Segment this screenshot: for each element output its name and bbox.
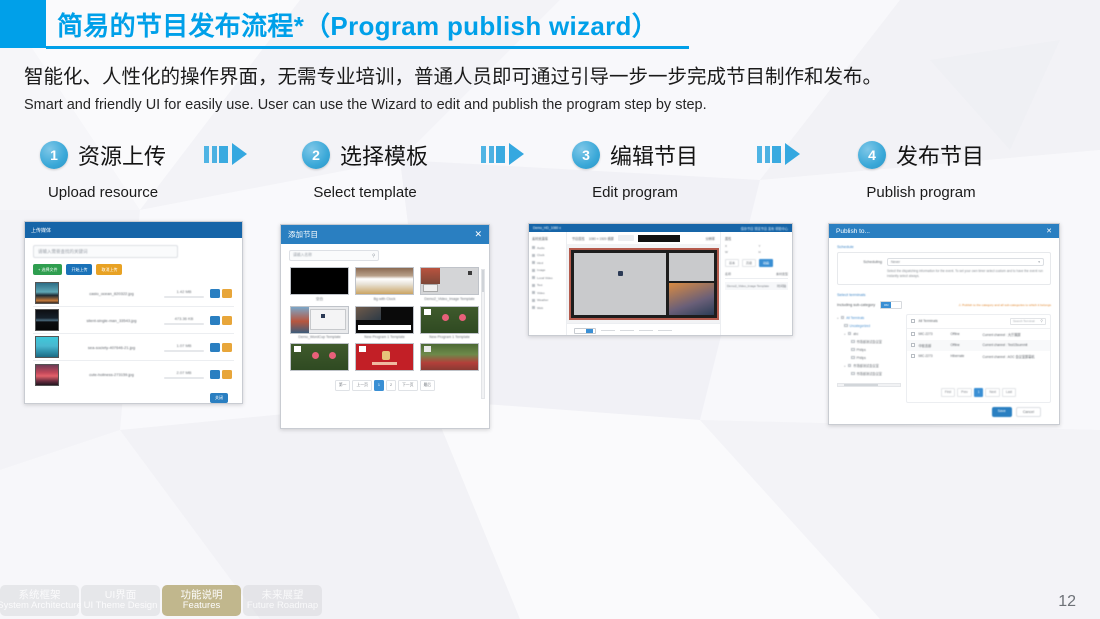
wizard-step-1: 1 资源上传 Upload resource xyxy=(40,133,166,201)
template-scrollbar[interactable] xyxy=(481,269,485,399)
tree-node-label: All Terminals xyxy=(846,316,864,320)
table-row[interactable]: MIC-2273 Hibernate Current channel : AOC… xyxy=(907,351,1050,362)
list-item[interactable] xyxy=(420,343,479,373)
step-label-en: Edit program xyxy=(572,184,698,201)
delete-icon[interactable] xyxy=(222,370,232,379)
file-name: cute-holiness-273159.jpg xyxy=(65,372,158,377)
template-caption: New Program 1 Template xyxy=(420,335,479,339)
template-thumbnail xyxy=(420,267,479,295)
tree-node-room-1[interactable]: 市场部测试会议室 xyxy=(837,338,901,346)
terminal-table: All Terminals Search Terminal ⚲ MIC-2273… xyxy=(906,314,1051,403)
choose-file-button[interactable]: + 选择文件 xyxy=(33,264,62,275)
file-thumbnail xyxy=(35,282,59,304)
tab-system-architecture[interactable]: 系统框架 System Architecture xyxy=(0,585,79,616)
list-item[interactable]: 空白 xyxy=(290,267,349,302)
list-item-name: Demo2_Video_Image Template xyxy=(727,284,769,288)
asset-item-html[interactable]: Html xyxy=(532,259,563,267)
prop-x: X xyxy=(725,244,755,248)
list-header-name: 名称 xyxy=(725,272,731,276)
properties-grid: X Y W H xyxy=(725,244,788,254)
terminal-channel: Current channel : AOC 会议室屏幕机 xyxy=(983,354,1047,359)
editor-titlebar-actions[interactable]: 保存节目 预览节目 发布 帮助中心 xyxy=(741,226,788,231)
terminal-search-placeholder: Search Terminal xyxy=(1013,319,1035,323)
upload-dialog-footer: 关闭 xyxy=(33,388,234,403)
tree-node-room-3[interactable]: 市场部测试会议室 xyxy=(837,370,901,378)
terminal-status: Hibernate xyxy=(951,354,979,358)
asset-item-audio[interactable]: Audio xyxy=(532,244,563,252)
template-search-placeholder: 请输入名称 xyxy=(293,253,312,258)
cancel-upload-button[interactable]: 取消上传 xyxy=(96,264,122,275)
row-actions xyxy=(210,370,232,379)
close-icon[interactable]: ✕ xyxy=(474,230,482,239)
tree-horizontal-scrollbar[interactable] xyxy=(837,383,901,387)
upload-button-row: + 选择文件 开始上传 取消上传 xyxy=(33,264,234,275)
template-caption: Demo_WordCup Template xyxy=(290,335,349,339)
checkbox[interactable] xyxy=(841,316,845,320)
subcategory-toggle-label: Including sub-category xyxy=(837,303,875,307)
asset-item-label: Audio xyxy=(537,246,545,250)
list-item-type: 时间轴 xyxy=(777,284,786,288)
editor-timeline[interactable] xyxy=(567,323,720,336)
terminal-tree: +All Terminals Uncategorized +abc 市场部测试会… xyxy=(837,314,901,403)
cancel-button[interactable]: Cancel xyxy=(1016,407,1041,417)
asset-item-weather[interactable]: Weather xyxy=(532,297,563,305)
list-item[interactable]: Demo_WordCup Template xyxy=(290,306,349,340)
weather-icon xyxy=(532,299,535,302)
list-item[interactable]: New Program 1 Template xyxy=(355,306,414,340)
wizard-steps: 1 资源上传 Upload resource 2 选择模板 Select tem… xyxy=(0,133,1100,208)
pager-prev[interactable]: 上一页 xyxy=(352,380,371,391)
close-button[interactable]: 关闭 xyxy=(210,393,228,403)
pager-page-2[interactable]: 2 xyxy=(386,380,396,391)
list-item[interactable]: New Program 1 Template xyxy=(420,306,479,340)
film-icon xyxy=(532,291,535,294)
properties-title: 属性 xyxy=(725,236,788,241)
start-upload-button[interactable]: 开始上传 xyxy=(66,264,92,275)
prop-w: W xyxy=(725,250,755,254)
close-icon[interactable]: ✕ xyxy=(1046,227,1052,235)
checkbox[interactable] xyxy=(851,372,855,376)
terminal-name: 中软总部 xyxy=(919,343,947,348)
warning-text: ⚠ Publish to the category and all sub-ca… xyxy=(958,303,1051,307)
file-name: silent-single-man_33543.jpg xyxy=(65,318,158,323)
checkbox[interactable] xyxy=(848,332,852,336)
step-label-en: Select template xyxy=(302,184,428,201)
asset-item-text[interactable]: Text xyxy=(532,282,563,290)
checkbox[interactable] xyxy=(851,356,855,360)
toolbar-label-program: 节目属性 xyxy=(572,236,585,241)
preview-icon[interactable] xyxy=(210,316,220,325)
table-header-label: All Terminals xyxy=(919,319,938,323)
asset-item-label: Web xyxy=(537,306,543,310)
tree-node-label: Philips xyxy=(857,356,866,360)
tree-node-room-2[interactable]: +市场部测试会议室 xyxy=(837,362,901,370)
pager-prev[interactable]: Prev xyxy=(957,388,972,397)
tree-node-all-terminals[interactable]: +All Terminals xyxy=(837,314,901,322)
section-title-schedule: Schedule xyxy=(837,244,1051,249)
pager-last[interactable]: Last xyxy=(1002,388,1016,397)
tree-node-abc[interactable]: +abc xyxy=(837,330,901,338)
checkbox[interactable] xyxy=(911,354,915,358)
timeline-segment xyxy=(658,330,672,331)
upload-progress-bar xyxy=(164,323,204,325)
asset-item-label: Clock xyxy=(537,253,545,257)
asset-item-video[interactable]: Video xyxy=(532,289,563,297)
tab-animation[interactable]: 动画 xyxy=(759,259,773,267)
step-label-cn: 资源上传 xyxy=(78,139,166,171)
tab-label-en: Future Roadmap xyxy=(247,601,318,612)
template-caption: 空白 xyxy=(290,297,349,302)
step-number-badge: 2 xyxy=(302,141,330,169)
editor-title: Demo_HD_1080 x xyxy=(533,226,561,230)
scheduling-hint: Select the dispatching information for t… xyxy=(887,269,1044,279)
list-item[interactable]: Demo2_Video_Image Template xyxy=(420,267,479,302)
preview-icon[interactable] xyxy=(210,343,220,352)
step-arrow-3-icon xyxy=(757,143,800,165)
save-button[interactable]: Save xyxy=(992,407,1012,417)
file-name: casio_ocean_820322.jpg xyxy=(65,291,158,296)
upload-progress-bar xyxy=(164,296,204,298)
table-row[interactable]: silent-single-man_33543.jpg 473.36 KB xyxy=(33,307,234,334)
checkbox[interactable] xyxy=(848,364,852,368)
tree-node-label: Uncategorized xyxy=(850,324,871,328)
publish-dialog-title: Publish to... xyxy=(836,228,870,235)
checkbox[interactable] xyxy=(911,332,915,336)
prop-h: H xyxy=(759,250,789,254)
toolbar-dropdown[interactable] xyxy=(618,235,634,241)
preview-icon[interactable] xyxy=(210,289,220,298)
asset-panel-title: 素材资源库 xyxy=(532,236,563,241)
tab-label-en: System Architecture xyxy=(0,601,82,612)
step-label-en: Upload resource xyxy=(40,184,166,201)
wizard-step-3: 3 编辑节目 Edit program xyxy=(572,133,698,201)
terminal-pagination: First Prev 1 Next Last xyxy=(907,388,1050,402)
table-row[interactable]: MIC-2273 Offline Current channel : 大厅展屏 xyxy=(907,329,1050,340)
file-thumbnail xyxy=(35,336,59,358)
table-row[interactable]: cute-holiness-273159.jpg 2.07 MB xyxy=(33,361,234,388)
section-title-terminals: Select terminals xyxy=(837,292,1051,297)
template-pagination: 第一 上一页 1 2 下一页 最后 xyxy=(281,380,489,391)
template-grid: 空白 Bg with Clock Demo2_Video_Image Templ… xyxy=(281,265,489,373)
upload-search-input[interactable]: 请输入需要查找的关键词 xyxy=(33,245,178,258)
schedule-panel: Scheduling Never ▾ Select the dispatchin… xyxy=(837,252,1051,285)
template-thumbnail xyxy=(355,343,414,371)
step-label-cn: 选择模板 xyxy=(340,139,428,171)
terminal-status: Offline xyxy=(951,343,979,347)
delete-icon[interactable] xyxy=(222,289,232,298)
video-icon xyxy=(532,276,535,279)
template-dialog-titlebar: 添加节目 ✕ xyxy=(281,225,489,244)
template-thumbnail xyxy=(290,343,349,371)
expand-icon[interactable]: + xyxy=(844,332,846,336)
editor-canvas[interactable] xyxy=(567,244,720,323)
timeline-segment xyxy=(601,330,615,331)
properties-list-header: 名称 素材类型 xyxy=(725,272,788,279)
checkbox[interactable] xyxy=(851,348,855,352)
scheduling-label: Scheduling xyxy=(844,260,882,264)
template-thumbnail xyxy=(290,306,349,334)
asset-item-label: Html xyxy=(537,261,543,265)
web-icon xyxy=(532,306,535,309)
section-tabs: 系统框架 System Architecture UI界面 UI Theme D… xyxy=(0,585,322,616)
clock-icon xyxy=(532,254,535,257)
asset-item-label: Weather xyxy=(537,298,548,302)
list-item[interactable]: Bg with Clock xyxy=(355,267,414,302)
delete-icon[interactable] xyxy=(222,343,232,352)
list-item[interactable] xyxy=(355,343,414,373)
upload-progress-bar xyxy=(164,377,204,379)
upload-file-list: casio_ocean_820322.jpg 1.42 MB silent-si… xyxy=(33,280,234,388)
terminal-status: Offline xyxy=(951,332,979,336)
expand-icon[interactable]: + xyxy=(844,364,846,368)
file-size: 2.07 MB xyxy=(164,370,204,375)
properties-tabs: 基本 高级 动画 xyxy=(725,259,788,267)
list-item[interactable] xyxy=(290,343,349,373)
file-size: 1.42 MB xyxy=(164,289,204,294)
search-icon[interactable]: ⚲ xyxy=(372,253,375,259)
terminal-channel: Current channel : 大厅展屏 xyxy=(983,332,1047,337)
header-accent-bar xyxy=(0,0,46,48)
pager-page-1[interactable]: 1 xyxy=(974,388,984,397)
intro-text-cn: 智能化、人性化的操作界面，无需专业培训，普通人员即可通过引导一步一步完成节目制作… xyxy=(24,60,882,89)
stage-region-bottom[interactable] xyxy=(669,283,713,314)
template-caption: Demo2_Video_Image Template xyxy=(420,297,479,301)
screenshot-program-editor: Demo_HD_1080 x 保存节目 预览节目 发布 帮助中心 素材资源库 A… xyxy=(528,223,793,336)
prop-y: Y xyxy=(759,244,789,248)
asset-item-web[interactable]: Web xyxy=(532,304,563,312)
step-arrow-2-icon xyxy=(481,143,524,165)
tree-node-label: 市场部测试会议室 xyxy=(857,339,883,344)
template-caption: New Program 1 Template xyxy=(355,335,414,339)
step-number-badge: 4 xyxy=(858,141,886,169)
table-header: All Terminals Search Terminal ⚲ xyxy=(907,315,1050,329)
publish-dialog-titlebar: Publish to... ✕ xyxy=(829,224,1059,238)
tab-label-en: Features xyxy=(183,601,221,612)
program-stage xyxy=(569,248,719,320)
asset-item-label: Video xyxy=(537,291,545,295)
asset-item-image[interactable]: Image xyxy=(532,267,563,275)
header-underline xyxy=(46,46,689,49)
pager-next[interactable]: 下一页 xyxy=(398,380,417,391)
delete-icon[interactable] xyxy=(222,316,232,325)
scheduling-value: Never xyxy=(891,260,900,264)
template-thumbnail xyxy=(420,343,479,371)
audio-icon xyxy=(532,246,535,249)
pager-first[interactable]: 第一 xyxy=(335,380,351,391)
tree-node-uncategorized[interactable]: Uncategorized xyxy=(837,322,901,330)
screenshot-template-dialog: 添加节目 ✕ 请输入名称 ⚲ 空白 Bg with Clock Demo2_Vi… xyxy=(280,224,490,429)
terminal-name: MIC-2273 xyxy=(919,354,947,358)
tab-ui-theme-design[interactable]: UI界面 UI Theme Design xyxy=(81,585,160,616)
asset-item-label: Local Video xyxy=(537,276,553,280)
row-actions xyxy=(210,289,232,298)
screenshot-publish-dialog: Publish to... ✕ Schedule Scheduling Neve… xyxy=(828,223,1060,425)
scheduling-select[interactable]: Never ▾ xyxy=(887,258,1044,266)
list-header-type: 素材类型 xyxy=(776,272,788,276)
text-icon xyxy=(532,284,535,287)
wizard-step-4: 4 发布节目 Publish program xyxy=(858,133,984,201)
template-thumbnail xyxy=(355,306,414,334)
list-item[interactable]: Demo2_Video_Image Template 时间轴 xyxy=(725,282,788,290)
tree-node-philips-1[interactable]: Philips xyxy=(837,346,901,354)
file-name: sea-society-407646-21.jpg xyxy=(65,345,158,350)
row-actions xyxy=(210,343,232,352)
timeline-track xyxy=(574,328,596,334)
file-size: 473.36 KB xyxy=(164,316,204,321)
html-icon xyxy=(532,261,535,264)
template-thumbnail xyxy=(420,306,479,334)
asset-item-local-video[interactable]: Local Video xyxy=(532,274,563,282)
image-icon xyxy=(532,269,535,272)
tree-node-philips-2[interactable]: Philips xyxy=(837,354,901,362)
toolbar-label-extra: 分辨率 xyxy=(705,236,715,241)
tab-future-roadmap[interactable]: 未来展望 Future Roadmap xyxy=(243,585,322,616)
pager-last[interactable]: 最后 xyxy=(420,380,436,391)
page-number: 12 xyxy=(1058,593,1076,611)
step-number-badge: 1 xyxy=(40,141,68,169)
terminal-search-input[interactable]: Search Terminal ⚲ xyxy=(1010,318,1046,325)
page-title-en: （Program publish wizard） xyxy=(304,11,658,41)
step-label-cn: 发布节目 xyxy=(896,139,984,171)
upload-dialog-title: 上传媒体 xyxy=(31,227,51,234)
tree-node-label: 市场部测试会议室 xyxy=(853,363,879,368)
template-thumbnail xyxy=(355,267,414,295)
step-label-cn: 编辑节目 xyxy=(610,139,698,171)
asset-item-clock[interactable]: Clock xyxy=(532,252,563,260)
checkbox[interactable] xyxy=(844,324,848,328)
timeline-segment xyxy=(639,330,653,331)
checkbox[interactable] xyxy=(851,340,855,344)
checkbox[interactable] xyxy=(911,343,915,347)
slide-header: 简易的节目发布流程*（Program publish wizard） xyxy=(0,0,1100,52)
terminal-name: MIC-2273 xyxy=(919,332,947,336)
tree-node-label: Philips xyxy=(857,348,866,352)
file-thumbnail xyxy=(35,364,59,386)
expand-icon[interactable]: + xyxy=(837,316,839,320)
select-all-checkbox[interactable] xyxy=(911,319,915,323)
file-size: 1.07 MB xyxy=(164,343,204,348)
tree-node-label: abc xyxy=(853,332,858,336)
table-row[interactable]: casio_ocean_820322.jpg 1.42 MB xyxy=(33,280,234,307)
pager-first[interactable]: First xyxy=(941,388,955,397)
pager-page-1[interactable]: 1 xyxy=(374,380,384,391)
warning-message: Publish to the category and all sub-cate… xyxy=(962,303,1051,307)
tab-features[interactable]: 功能说明 Features xyxy=(162,585,241,616)
editor-properties-panel: 属性 X Y W H 基本 高级 动画 名称 素材类型 Demo2_Video_… xyxy=(720,232,792,336)
table-row[interactable]: 中软总部 Offline Current channel : Test15sum… xyxy=(907,340,1050,351)
editor-toolbar: 节目属性 1080 × 1920 横屏 分辨率 xyxy=(567,232,720,244)
asset-item-label: Text xyxy=(537,283,543,287)
wizard-step-2: 2 选择模板 Select template xyxy=(302,133,428,201)
template-search-input[interactable]: 请输入名称 ⚲ xyxy=(289,250,379,261)
page-title: 简易的节目发布流程*（Program publish wizard） xyxy=(57,6,658,43)
publish-dialog-footer: Save Cancel xyxy=(837,403,1051,417)
screenshot-upload-dialog: 上传媒体 请输入需要查找的关键词 + 选择文件 开始上传 取消上传 casio_… xyxy=(24,221,243,404)
timeline-segment xyxy=(620,330,634,331)
table-row[interactable]: sea-society-407646-21.jpg 1.07 MB xyxy=(33,334,234,361)
step-arrow-1-icon xyxy=(204,143,247,165)
upload-progress-bar xyxy=(164,350,204,352)
step-label-en: Publish program xyxy=(858,184,984,201)
asset-item-label: Image xyxy=(537,268,545,272)
toolbar-field[interactable] xyxy=(638,235,680,242)
cursor-icon xyxy=(618,271,623,276)
intro-text-en: Smart and friendly UI for easily use. Us… xyxy=(24,97,707,113)
row-actions xyxy=(210,316,232,325)
file-thumbnail xyxy=(35,309,59,331)
upload-dialog-titlebar: 上传媒体 xyxy=(25,222,242,238)
editor-titlebar: Demo_HD_1080 x 保存节目 预览节目 发布 帮助中心 xyxy=(529,224,792,232)
preview-icon[interactable] xyxy=(210,370,220,379)
search-icon[interactable]: ⚲ xyxy=(1041,319,1043,323)
toggle-on-label: ON xyxy=(881,302,891,308)
tab-basic[interactable]: 基本 xyxy=(725,259,739,267)
toolbar-label-resolution: 1080 × 1920 横屏 xyxy=(589,236,614,241)
stage-region-top[interactable] xyxy=(669,253,713,282)
stage-region-main[interactable] xyxy=(574,253,667,315)
page-title-cn: 简易的节目发布流程* xyxy=(57,11,304,41)
terminal-channel: Current channel : Test15summit xyxy=(983,343,1047,347)
template-thumbnail xyxy=(290,267,349,295)
pager-next[interactable]: Next xyxy=(985,388,1000,397)
template-dialog-title: 添加节目 xyxy=(288,229,318,240)
editor-asset-panel: 素材资源库 Audio Clock Html Image Local Video… xyxy=(529,232,567,336)
tree-node-label: 市场部测试会议室 xyxy=(857,371,883,376)
tab-advanced[interactable]: 高级 xyxy=(742,259,756,267)
chevron-down-icon[interactable]: ▾ xyxy=(1038,260,1040,264)
subcategory-toggle[interactable]: ON xyxy=(880,301,902,309)
tab-label-en: UI Theme Design xyxy=(84,601,158,612)
template-caption: Bg with Clock xyxy=(355,297,414,301)
step-number-badge: 3 xyxy=(572,141,600,169)
